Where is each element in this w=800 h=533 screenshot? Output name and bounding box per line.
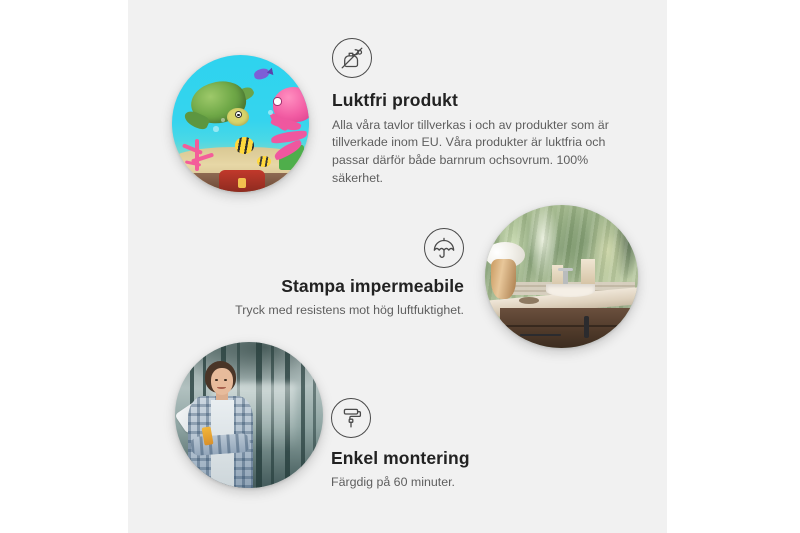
treasure-chest — [219, 170, 266, 192]
umbrella-icon — [424, 228, 464, 268]
drawer-divider — [500, 325, 638, 327]
sink-basin — [546, 284, 595, 297]
eye — [224, 379, 227, 381]
screenshot-root: Luktfri produkt Alla våra tavlor tillver… — [0, 0, 800, 533]
product-image-forest-installer[interactable] — [175, 342, 323, 488]
octopus-eye — [273, 97, 281, 105]
soap-dish — [519, 297, 539, 304]
face — [211, 368, 233, 394]
cabinet-handle — [584, 316, 590, 338]
yellow-fish — [235, 137, 254, 153]
feature-odor-free: Luktfri produkt Alla våra tavlor tillver… — [332, 38, 632, 187]
turtle-eye — [235, 111, 242, 118]
faucet — [563, 269, 568, 285]
no-scent-icon — [332, 38, 372, 78]
underwater-scene — [172, 55, 309, 192]
bubble — [213, 126, 218, 131]
feature-body: Färgdig på 60 minuter. — [331, 474, 591, 492]
feature-body: Alla våra tavlor tillverkas i och av pro… — [332, 117, 622, 187]
feature-title: Luktfri produkt — [332, 90, 632, 112]
feature-body: Tryck med resistens mot hög luftfuktighe… — [222, 302, 464, 320]
forest-installer-scene — [175, 342, 323, 488]
bubble — [268, 110, 273, 115]
feature-title: Enkel montering — [331, 448, 591, 470]
product-image-bathroom[interactable] — [485, 205, 638, 348]
wooden-vanity — [500, 308, 638, 348]
bathroom-scene — [485, 205, 638, 348]
eye — [215, 379, 218, 381]
feature-easy-mounting: Enkel montering Färgdig på 60 minuter. — [331, 398, 591, 491]
feature-title: Stampa impermeabile — [222, 276, 464, 298]
paint-roller-icon — [331, 398, 371, 438]
feature-waterproof: Stampa impermeabile Tryck med resistens … — [222, 228, 464, 319]
product-image-underwater[interactable] — [172, 55, 309, 192]
pink-coral — [179, 134, 220, 175]
smile — [217, 385, 227, 389]
yellow-fish — [257, 156, 271, 167]
drawer-handle — [520, 334, 560, 336]
vase — [491, 259, 515, 299]
